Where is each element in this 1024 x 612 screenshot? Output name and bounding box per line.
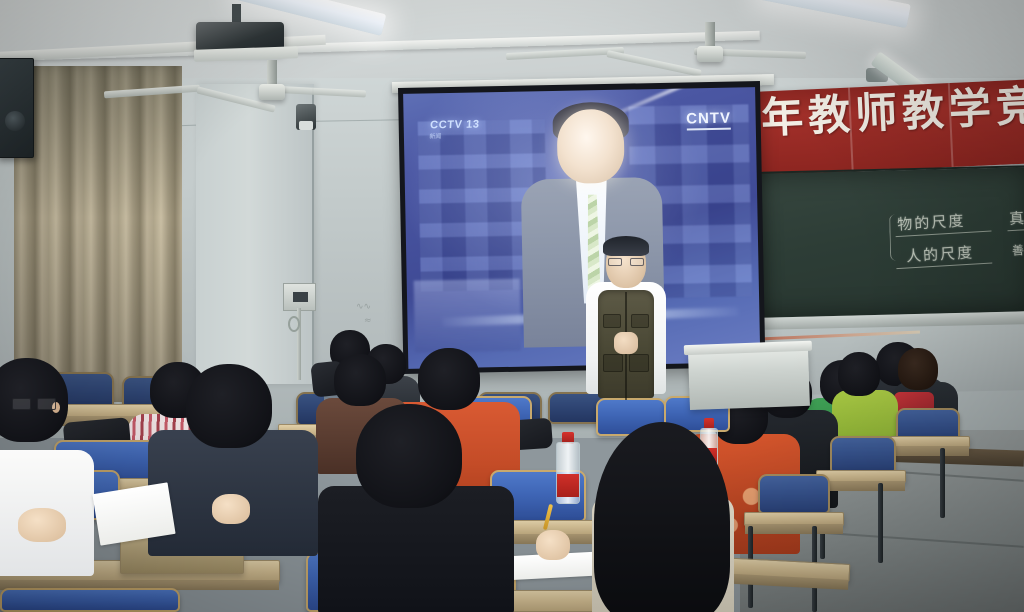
fan-blade xyxy=(606,50,701,77)
fan-hub xyxy=(697,46,723,62)
student-hand-writing xyxy=(18,508,66,542)
person-head xyxy=(186,364,272,448)
desk-leg xyxy=(878,483,883,563)
bottle-body xyxy=(556,442,580,504)
wall-scribble: ∿∿ xyxy=(356,302,371,312)
vest-pocket xyxy=(603,314,621,328)
fan-rod xyxy=(705,22,715,48)
student-hand xyxy=(212,494,250,524)
red-competition-banner: 年教师教学竞赛 xyxy=(752,79,1024,176)
student-black-blazer xyxy=(356,404,466,594)
vest-pocket xyxy=(629,354,649,372)
person-head xyxy=(334,354,386,406)
bottle-label xyxy=(557,474,579,497)
chalk-line-2: 人的尺度 xyxy=(905,241,974,266)
presenter xyxy=(578,240,674,420)
banner-text: 年教师教学竞赛 xyxy=(760,83,1024,140)
presenter-hair xyxy=(603,236,649,256)
wall-speaker xyxy=(0,58,34,158)
ceiling-fan-left xyxy=(182,62,362,108)
cctv-channel-logo: CCTV 13 新闻 xyxy=(429,119,480,141)
green-chalkboard: 物的尺度 人的尺度 真 善 xyxy=(752,165,1024,320)
person-head xyxy=(898,348,938,390)
security-camera xyxy=(296,104,316,130)
lectern[interactable] xyxy=(688,348,810,410)
socket-hook xyxy=(288,316,300,332)
cntv-network-logo: CNTV xyxy=(686,110,731,131)
chalk-line-3: 真 xyxy=(1009,207,1024,229)
chair[interactable] xyxy=(758,474,830,514)
chair[interactable] xyxy=(0,588,180,612)
chalk-line-1: 物的尺度 xyxy=(897,210,966,235)
speaker-cone-icon xyxy=(5,111,25,131)
cctv-logo-subtext: 新闻 xyxy=(429,131,479,141)
classroom-photo: 年教师教学竞赛 物的尺度 人的尺度 真 善 ∿∿ ≈ xyxy=(0,0,1024,612)
desk[interactable] xyxy=(890,436,970,448)
person-head xyxy=(418,348,480,410)
wall-socket-panel[interactable] xyxy=(283,283,316,311)
student-lime-top xyxy=(838,352,888,432)
vest-pocket xyxy=(603,354,623,372)
chair[interactable] xyxy=(830,436,896,474)
water-bottle-center[interactable] xyxy=(556,432,580,504)
chalk-line-4: 善 xyxy=(1011,241,1024,259)
fan-rod xyxy=(267,60,277,86)
student-front-left xyxy=(0,358,72,528)
wall-scribble: ≈ xyxy=(364,316,372,326)
person-head xyxy=(356,404,462,508)
fan-hub xyxy=(259,84,285,100)
ceiling-projector xyxy=(196,8,284,54)
presenter-hands xyxy=(614,332,638,354)
curtain-shading xyxy=(14,66,182,402)
desk[interactable] xyxy=(744,512,844,526)
eyeglasses-icon xyxy=(608,258,644,266)
anchor-head xyxy=(556,109,625,184)
person-torso xyxy=(148,430,318,556)
person-hair xyxy=(594,422,730,612)
eyeglasses-icon xyxy=(12,398,56,410)
vest-pocket xyxy=(631,314,649,328)
student-navy-shirt xyxy=(186,364,272,514)
person-head xyxy=(838,352,880,396)
desk-leg xyxy=(940,448,945,518)
pillar-edge xyxy=(312,88,314,384)
student-long-hair-center xyxy=(600,412,720,612)
student-hand-writing xyxy=(536,530,570,560)
